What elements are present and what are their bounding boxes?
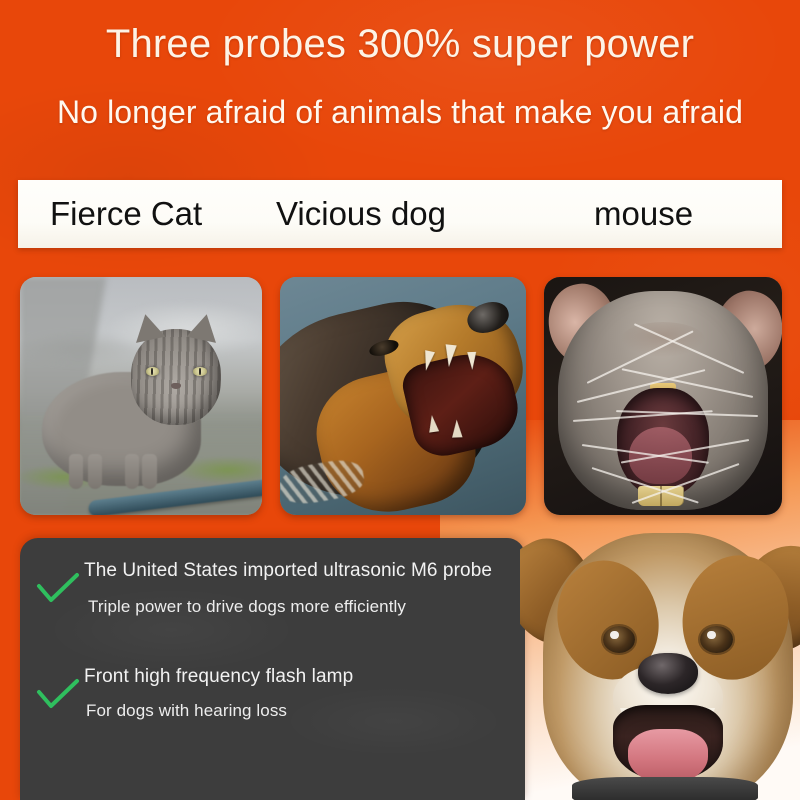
photo-vicious-dog	[280, 277, 526, 515]
check-icon	[36, 572, 82, 606]
hero-dog-nose	[638, 653, 698, 694]
label-fierce-cat: Fierce Cat	[18, 195, 276, 233]
cat-eye	[193, 367, 206, 376]
cat-leg	[88, 454, 102, 488]
dog-fang	[426, 414, 438, 432]
feature-item-ultrasonic-probe: The United States imported ultrasonic M6…	[36, 560, 506, 618]
photo-fierce-cat	[20, 277, 262, 515]
feature-subtitle: For dogs with hearing loss	[84, 701, 506, 721]
cat-eye	[146, 367, 159, 376]
hero-dog-eye	[700, 626, 732, 653]
category-label-bar: Fierce Cat Vicious dog mouse	[18, 180, 782, 248]
hero-dog-tongue	[628, 729, 708, 784]
dog-fang	[443, 344, 456, 367]
label-mouse: mouse	[552, 195, 782, 233]
animal-photo-row	[20, 277, 782, 515]
photo-mouse	[544, 277, 782, 515]
product-banner: Three probes 300% super power No longer …	[0, 0, 800, 800]
rat-brow	[621, 322, 705, 357]
cat-leg	[69, 454, 83, 488]
label-vicious-dog: Vicious dog	[276, 195, 552, 233]
dog-fang	[467, 352, 477, 370]
cat-head	[131, 329, 221, 424]
rat-face	[558, 291, 767, 510]
hero-dog-head	[543, 533, 792, 800]
subheadline: No longer afraid of animals that make yo…	[0, 94, 800, 131]
cat-leg	[125, 454, 139, 488]
cat-nose	[171, 383, 182, 390]
dog-fang	[452, 419, 463, 437]
check-icon	[36, 678, 82, 712]
feature-title: Front high frequency flash lamp	[84, 666, 506, 687]
cat-ear	[131, 311, 166, 343]
feature-panel: The United States imported ultrasonic M6…	[20, 538, 525, 800]
headline: Three probes 300% super power	[0, 22, 800, 67]
hero-dog-image	[520, 516, 800, 800]
hero-dog-collar	[572, 777, 758, 800]
feature-title: The United States imported ultrasonic M6…	[84, 560, 506, 581]
cat-ear	[187, 311, 222, 343]
cat-leg	[142, 454, 156, 488]
feature-item-flash-lamp: Front high frequency flash lamp For dogs…	[36, 666, 506, 722]
feature-subtitle: Triple power to drive dogs more efficien…	[84, 597, 506, 617]
